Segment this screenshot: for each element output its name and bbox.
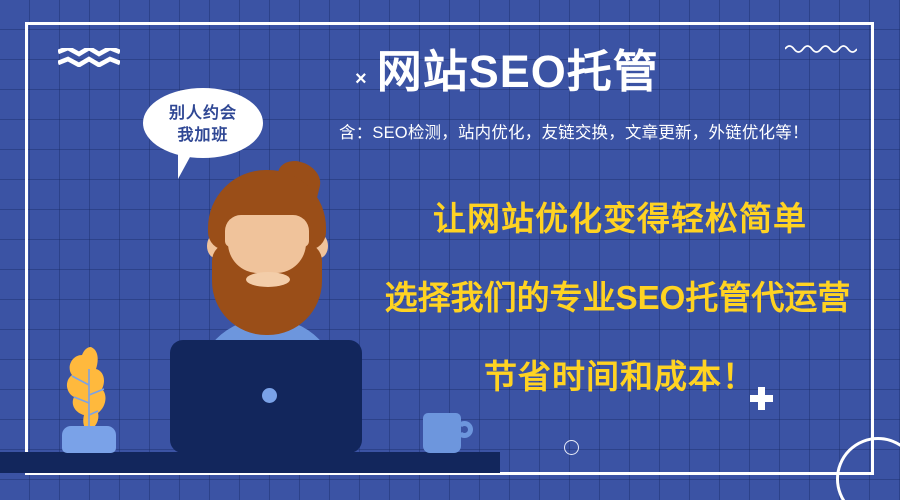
mouth: [246, 272, 290, 287]
coffee-mug-icon: [423, 413, 461, 453]
speech-bubble-line-2: 我加班: [143, 125, 263, 147]
plant-pot: [62, 426, 116, 453]
seo-hosting-banner: × 网站SEO托管 含：SEO检测，站内优化，友链交换，文章更新，外链优化等！ …: [0, 0, 900, 500]
laptop-logo-dot: [262, 388, 277, 403]
speech-bubble: 别人约会 我加班: [143, 88, 263, 158]
desk-surface: [0, 452, 500, 473]
speech-bubble-line-1: 别人约会: [143, 103, 263, 125]
potted-plant-icon: [60, 345, 118, 433]
